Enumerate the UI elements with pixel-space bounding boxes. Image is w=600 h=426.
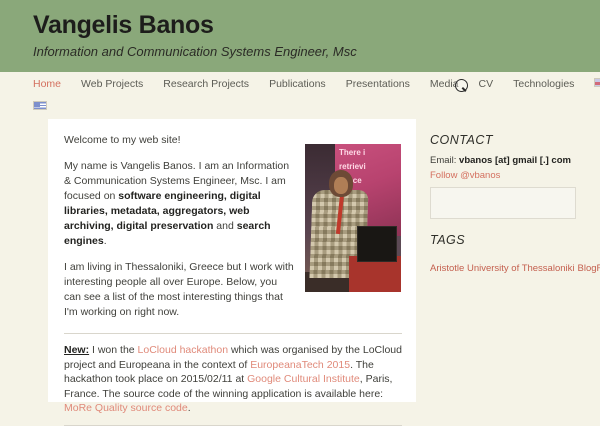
nav-item-language-en[interactable] xyxy=(594,75,600,93)
content-inner: Welcome to my web site! My name is Vange… xyxy=(64,133,402,331)
nav-link-web-projects[interactable]: Web Projects xyxy=(81,72,143,96)
nav-item-technologies[interactable]: Technologies xyxy=(513,72,574,96)
news-block: New: I won the LoCloud hackathon which w… xyxy=(64,343,402,426)
site-masthead: Vangelis Banos Information and Communica… xyxy=(0,0,600,72)
news-badge: New: xyxy=(64,344,89,356)
nav-link-technologies[interactable]: Technologies xyxy=(513,72,574,96)
contact-email-value: vbanos [at] gmail [.] com xyxy=(459,155,571,166)
nav-list: Home Web Projects Research Projects Publ… xyxy=(33,72,600,96)
content-divider xyxy=(64,333,402,334)
photo-person-head xyxy=(329,170,353,197)
nav-link-presentations[interactable]: Presentations xyxy=(346,72,410,96)
tags-widget-title: TAGS xyxy=(430,233,588,247)
contact-widget-title: CONTACT xyxy=(430,133,588,147)
photo-person-face xyxy=(334,177,348,194)
news-part5: . xyxy=(188,402,191,414)
nav-item-cv[interactable]: CV xyxy=(479,72,494,96)
news-paragraph: New: I won the LoCloud hackathon which w… xyxy=(64,343,402,416)
page-body: Welcome to my web site! My name is Vange… xyxy=(0,119,600,402)
contact-widget: CONTACT Email: vbanos [at] gmail [.] com… xyxy=(430,133,588,219)
news-link-locloud[interactable]: LoCloud hackathon xyxy=(138,344,229,356)
news-part1: I won the xyxy=(89,344,137,356)
photo-laptop xyxy=(357,226,397,262)
intro-post: . xyxy=(104,235,107,247)
nav-item-presentations[interactable]: Presentations xyxy=(346,72,410,96)
news-link-more-source-code[interactable]: MoRe Quality source code xyxy=(64,402,188,414)
contact-email-label: Email: xyxy=(430,155,459,166)
uk-flag-icon[interactable] xyxy=(594,78,600,87)
news-link-europeanatech[interactable]: EuropeanaTech 2015 xyxy=(250,359,350,371)
nav-link-cv[interactable]: CV xyxy=(479,72,494,96)
intro-paragraph: My name is Vangelis Banos. I am an Infor… xyxy=(64,159,295,249)
main-navigation: Home Web Projects Research Projects Publ… xyxy=(0,72,600,119)
site-tagline: Information and Communication Systems En… xyxy=(33,40,600,60)
mouse-cursor xyxy=(455,79,468,92)
speaker-photo: There i retrievi succe Web b arves xyxy=(304,143,402,293)
tag-link[interactable]: BlogForever xyxy=(578,263,600,274)
page-title: Vangelis Banos xyxy=(33,0,600,40)
news-bottom-rule xyxy=(64,425,402,426)
nav-item-home[interactable]: Home xyxy=(33,72,61,96)
nav-link-publications[interactable]: Publications xyxy=(269,72,326,96)
nav-link-home[interactable]: Home xyxy=(33,72,61,96)
nav-link-research-projects[interactable]: Research Projects xyxy=(163,72,249,96)
tag-link[interactable]: Aristotle University of Thessaloniki xyxy=(430,263,575,274)
intro-mid: and xyxy=(213,220,236,232)
twitter-follow-widget[interactable] xyxy=(430,187,576,219)
nav-second-row xyxy=(33,96,47,116)
greek-flag-icon[interactable] xyxy=(33,101,47,110)
main-content: Welcome to my web site! My name is Vange… xyxy=(48,119,416,402)
living-paragraph: I am living in Thessaloniki, Greece but … xyxy=(64,260,295,320)
tag-cloud: Aristotle University of ThessalonikiBlog… xyxy=(430,254,588,277)
nav-item-web-projects[interactable]: Web Projects xyxy=(81,72,143,96)
nav-item-research-projects[interactable]: Research Projects xyxy=(163,72,249,96)
contact-email-line: Email: vbanos [at] gmail [.] com xyxy=(430,154,588,167)
twitter-follow-link[interactable]: Follow @vbanos xyxy=(430,170,588,181)
news-link-google-cultural-institute[interactable]: Google Cultural Institute xyxy=(247,373,360,385)
intro-copy: Welcome to my web site! My name is Vange… xyxy=(64,133,295,331)
welcome-text: Welcome to my web site! xyxy=(64,133,295,148)
tags-widget: TAGS Aristotle University of Thessalonik… xyxy=(430,233,588,277)
sidebar: CONTACT Email: vbanos [at] gmail [.] com… xyxy=(416,119,600,402)
nav-item-publications[interactable]: Publications xyxy=(269,72,326,96)
slide-line-1: There i xyxy=(339,148,365,157)
